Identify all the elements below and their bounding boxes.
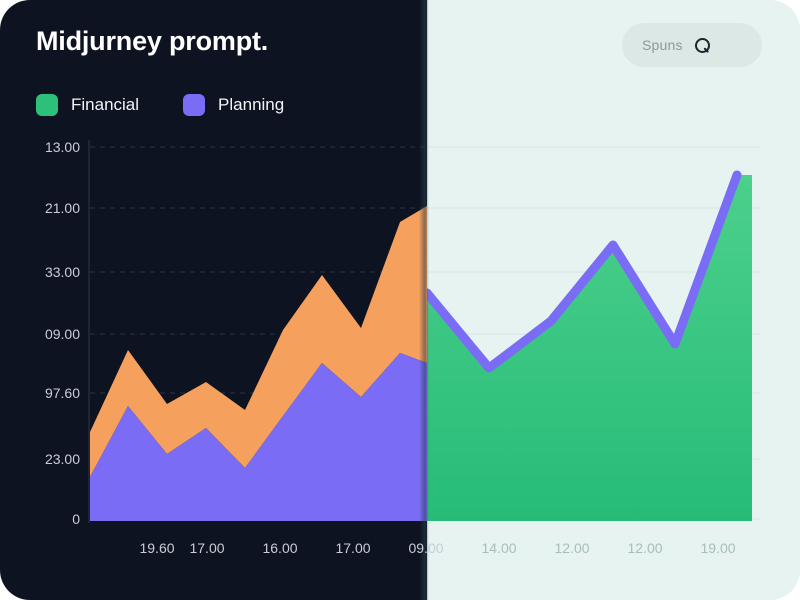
- dashboard-card: 13.00 21.00 33.00 09.00 97.60 23.00 0 19…: [0, 0, 800, 600]
- x-axis-labels: 19.60 17.00 16.00 17.00 09.00 14.00 12.0…: [0, 0, 800, 600]
- page-title: Midjurney prompt.: [36, 26, 268, 57]
- x-tick-label: 09.00: [408, 540, 443, 556]
- x-tick-label: 14.00: [481, 540, 516, 556]
- x-tick-label: 19.60: [139, 540, 174, 556]
- legend-label-financial: Financial: [71, 95, 139, 115]
- search-button[interactable]: Spuns: [622, 23, 762, 67]
- legend-label-planning: Planning: [218, 95, 284, 115]
- x-tick-label: 17.00: [189, 540, 224, 556]
- legend-swatch-planning: [183, 94, 205, 116]
- x-tick-label: 12.00: [554, 540, 589, 556]
- search-label: Spuns: [642, 37, 683, 53]
- legend-item-planning[interactable]: Planning: [183, 94, 284, 116]
- chart-legend: Financial Planning: [36, 94, 284, 116]
- x-tick-label: 17.00: [335, 540, 370, 556]
- x-tick-label: 16.00: [262, 540, 297, 556]
- x-tick-label: 19.00: [700, 540, 735, 556]
- legend-swatch-financial: [36, 94, 58, 116]
- search-icon[interactable]: [695, 38, 710, 53]
- x-tick-label: 12.00: [627, 540, 662, 556]
- legend-item-financial[interactable]: Financial: [36, 94, 139, 116]
